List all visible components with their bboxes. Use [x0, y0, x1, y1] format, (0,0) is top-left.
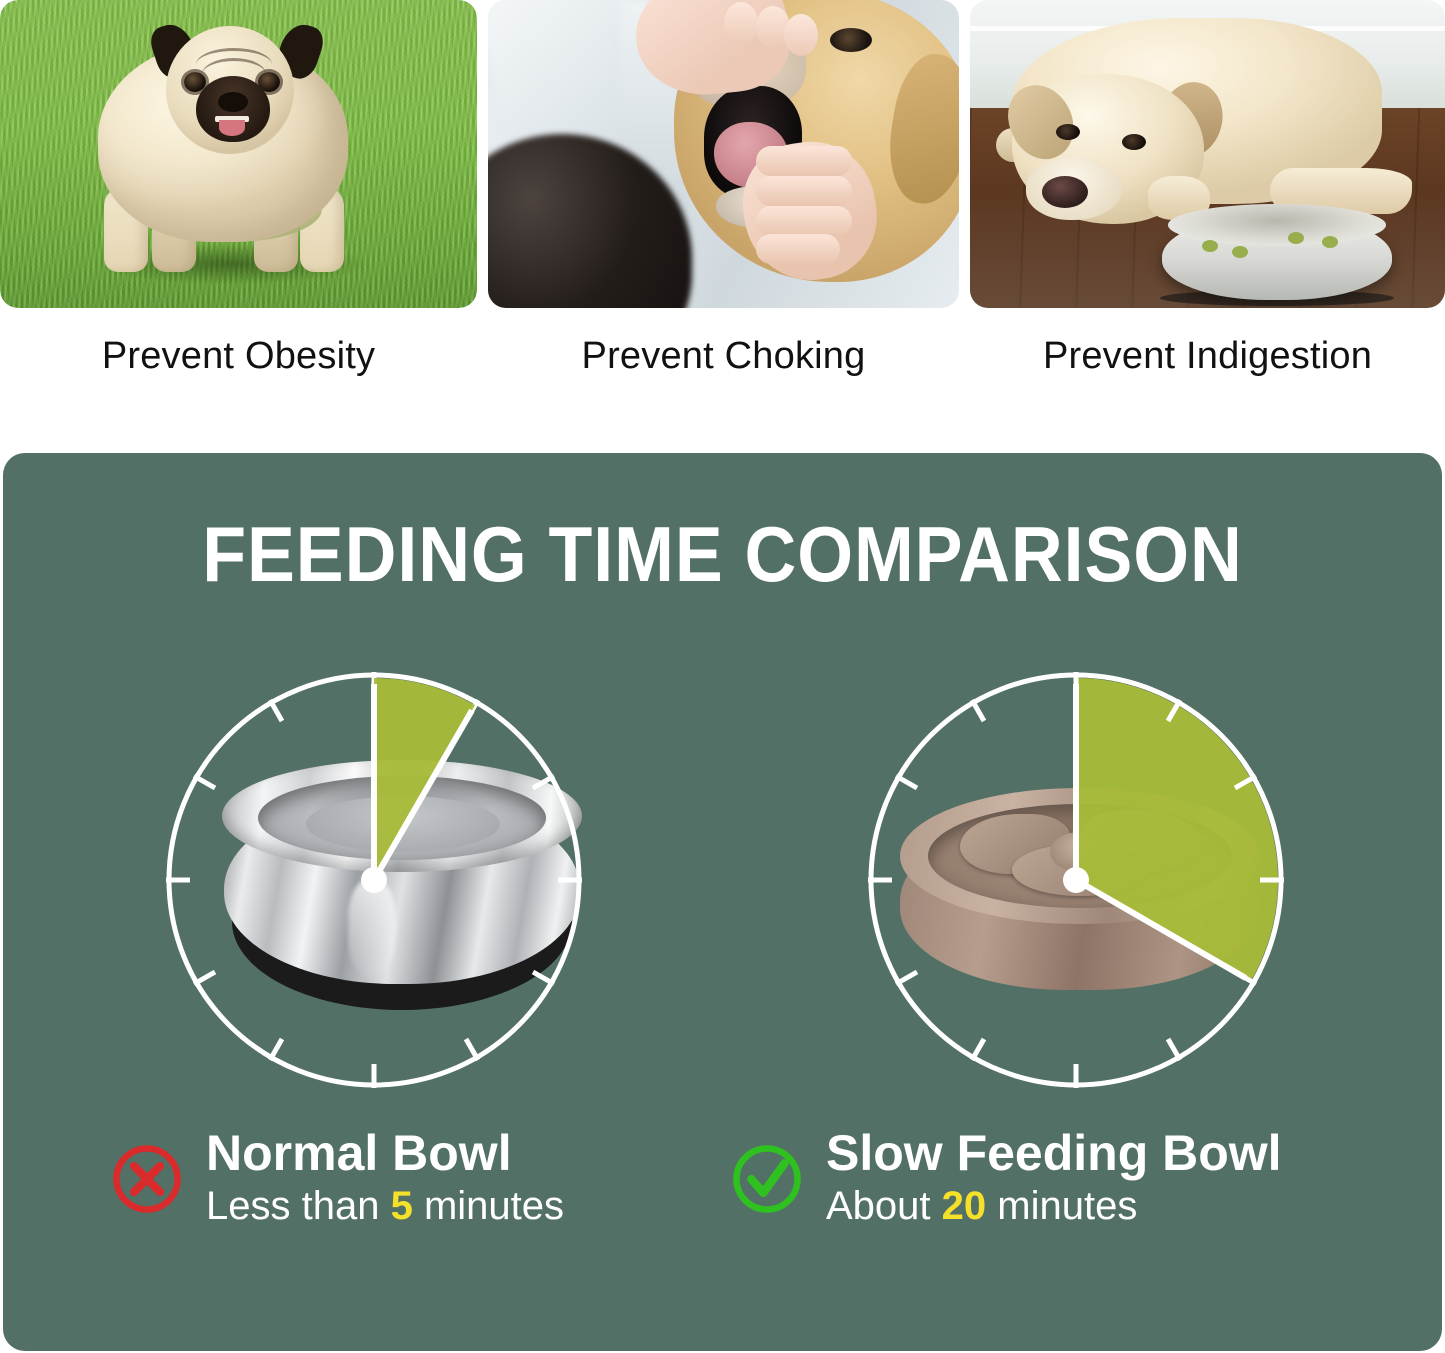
legend-title-slow-bowl: Slow Feeding Bowl [826, 1128, 1282, 1179]
dial-normal-bowl [160, 666, 588, 1094]
legend-sub-suffix: minutes [986, 1184, 1137, 1228]
human-finger [756, 146, 852, 176]
legend-minutes-value: 20 [942, 1184, 987, 1228]
caption-prevent-indigestion: Prevent Indigestion [970, 336, 1445, 378]
pug-nose [218, 92, 248, 112]
legend-minutes-value: 5 [391, 1184, 413, 1228]
dial-slow-feeding-bowl [862, 666, 1290, 1094]
panel-title: FEEDING TIME COMPARISON [61, 509, 1385, 600]
photo-prevent-choking [488, 0, 959, 308]
dial-center-hub-slow [1063, 867, 1089, 893]
green-check-circle-icon [730, 1142, 804, 1216]
labrador-nose [1042, 176, 1088, 208]
food-piece [1288, 232, 1304, 244]
benefit-caption-row: Prevent Obesity Prevent Choking Prevent … [0, 336, 1445, 378]
food-piece [1232, 246, 1248, 258]
red-cross-circle-icon [110, 1142, 184, 1216]
human-finger [756, 176, 852, 206]
dial-center-hub-normal [361, 867, 387, 893]
retriever-eye [830, 28, 872, 52]
human-finger [724, 2, 758, 44]
legend-sub-prefix: Less than [206, 1184, 391, 1228]
dial-svg-slow-bowl [862, 666, 1290, 1094]
legend-title-normal-bowl: Normal Bowl [206, 1128, 564, 1179]
human-finger [756, 234, 840, 264]
human-finger [784, 14, 818, 56]
caption-prevent-choking: Prevent Choking [488, 336, 959, 378]
legend-subtitle-normal-bowl: Less than 5 minutes [206, 1183, 564, 1230]
dial-svg-normal-bowl [160, 666, 588, 1094]
photo-prevent-obesity [0, 0, 477, 308]
legend-subtitle-slow-bowl: About 20 minutes [826, 1183, 1282, 1230]
labrador-eye [1056, 124, 1080, 140]
pug-tongue [219, 120, 245, 136]
legend-sub-prefix: About [826, 1184, 942, 1228]
legend-normal-bowl: Normal Bowl Less than 5 minutes [110, 1128, 564, 1230]
stainless-bowl-rim [1168, 204, 1386, 246]
food-piece [1202, 240, 1218, 252]
legend-sub-suffix: minutes [413, 1184, 564, 1228]
photo-prevent-indigestion [970, 0, 1445, 308]
food-piece [1322, 236, 1338, 248]
human-finger [756, 206, 852, 236]
legend-slow-feeding-bowl: Slow Feeding Bowl About 20 minutes [730, 1128, 1282, 1230]
caption-prevent-obesity: Prevent Obesity [0, 336, 477, 378]
benefit-photo-row [0, 0, 1445, 308]
labrador-eye [1122, 134, 1146, 150]
